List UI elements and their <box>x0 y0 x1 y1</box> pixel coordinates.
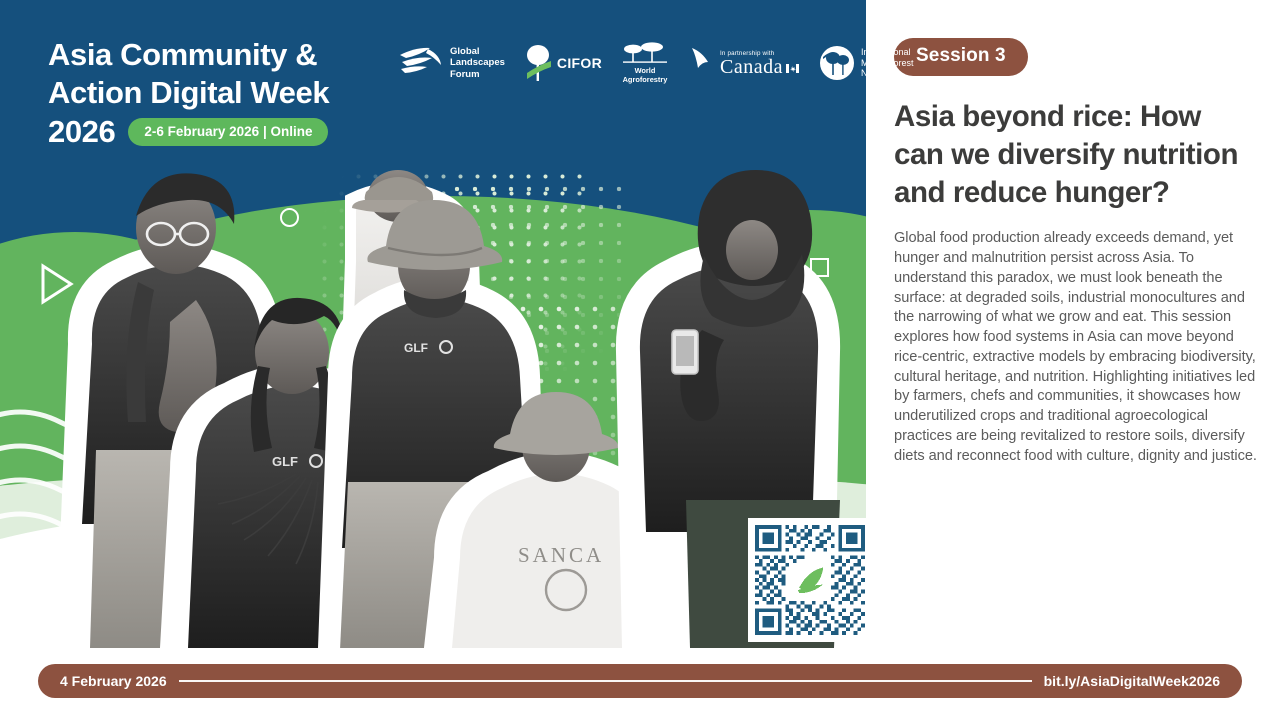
glf-logo-text: Global Landscapes Forum <box>450 46 505 80</box>
event-title: Asia Community & Action Digital Week <box>48 36 329 112</box>
partner-logo-strip: Global Landscapes Forum CIFOR World Agro… <box>398 36 914 90</box>
canada-maple-flag-icon <box>786 64 799 73</box>
imfn-globe-tree-icon <box>819 45 855 81</box>
canada-flag-icon <box>688 44 714 82</box>
footer-bar: 4 February 2026 bit.ly/AsiaDigitalWeek20… <box>38 664 1242 698</box>
logo-international-model-forest-network: International Model Forest Network <box>819 45 914 81</box>
footer-date: 4 February 2026 <box>60 673 167 689</box>
event-poster: GLF <box>0 0 1280 720</box>
logo-global-landscapes-forum: Global Landscapes Forum <box>398 45 505 81</box>
world-agroforestry-tree-icon <box>622 42 668 64</box>
session-title: Asia beyond rice: How can we diversify n… <box>894 98 1258 211</box>
brand-block: Asia Community & Action Digital Week 202… <box>48 36 329 150</box>
session-description: Global food production already exceeds d… <box>894 229 1258 466</box>
svg-text:GLF: GLF <box>272 454 298 469</box>
canada-logo-text: Canada <box>720 57 783 77</box>
world-agroforestry-logo-text: World Agroforestry <box>623 66 668 84</box>
svg-text:SANCA: SANCA <box>518 543 604 567</box>
logo-world-agroforestry: World Agroforestry <box>622 42 668 84</box>
logo-canada: In partnership with Canada <box>688 44 799 82</box>
svg-text:GLF: GLF <box>404 341 428 355</box>
imfn-logo-text: International Model Forest Network <box>861 47 914 79</box>
session-badge: Session 3 <box>894 38 1028 76</box>
session-panel: Session 3 Asia beyond rice: How can we d… <box>874 0 1280 648</box>
footer-divider-line <box>179 680 1032 681</box>
event-year: 2026 <box>48 114 115 150</box>
glf-leaf-icon <box>398 45 444 81</box>
brand-year-row: 2026 2-6 February 2026 | Online <box>48 114 329 150</box>
logo-cifor: CIFOR <box>525 43 602 83</box>
event-date-pill: 2-6 February 2026 | Online <box>128 118 328 146</box>
footer-url[interactable]: bit.ly/AsiaDigitalWeek2026 <box>1044 673 1220 689</box>
cifor-logo-text: CIFOR <box>557 55 602 71</box>
qr-code-image <box>755 525 865 635</box>
cifor-tree-icon <box>525 43 551 83</box>
qr-code[interactable] <box>748 518 866 642</box>
